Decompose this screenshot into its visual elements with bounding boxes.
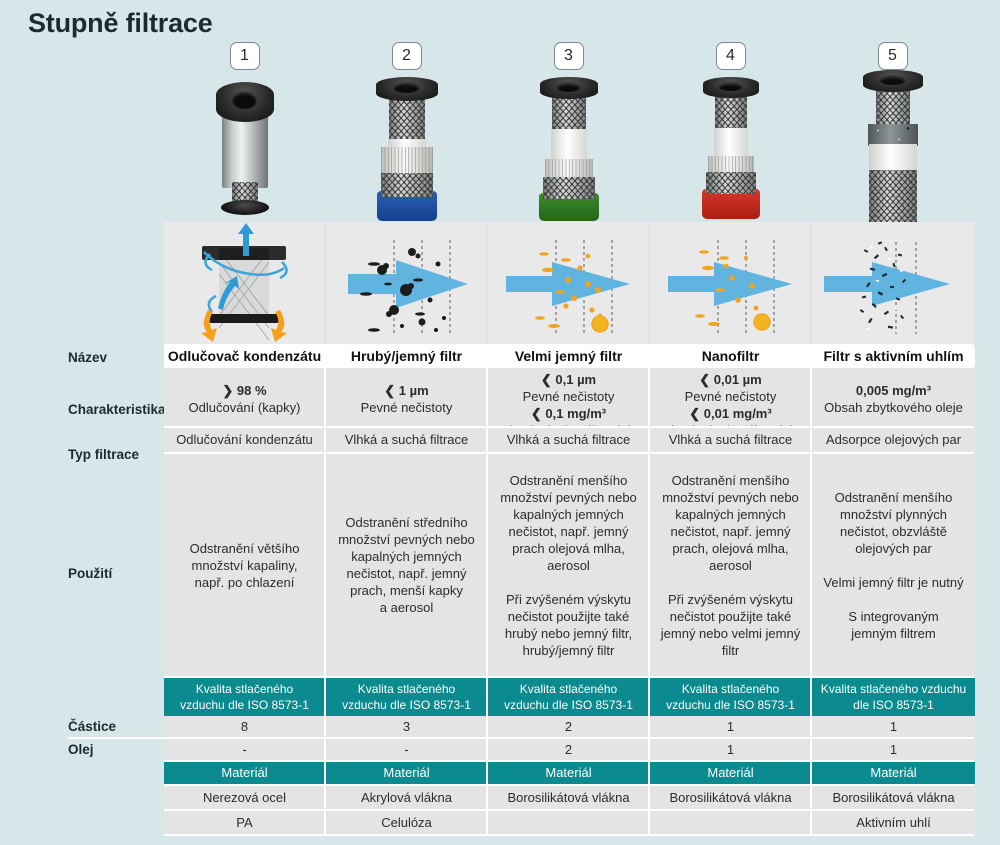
diagram-coarse-fine-filter <box>326 222 486 344</box>
material-banner-1: Materiál <box>164 762 325 784</box>
product-photo-5: 5 <box>812 36 973 222</box>
quality-banner-2: Kvalita stlačeného vzduchu dle ISO 8573-… <box>326 678 487 716</box>
material-a-cell-3: Borosilikátová vlákna <box>488 786 649 809</box>
filtration-diagram-row <box>164 222 974 344</box>
material-b-cell-2: Celulóza <box>326 811 487 834</box>
quality-banner-3: Kvalita stlačeného vzduchu dle ISO 8573-… <box>488 678 649 716</box>
nazev-cell-5: Filtr s aktivním uhlím <box>812 347 975 366</box>
char-line: 0,005 mg/m³ <box>812 382 975 399</box>
pouziti-cell-5: Odstranění menšího množství plynných neč… <box>812 454 975 676</box>
charakteristika-cell-3: ❮ 0,1 µm Pevné nečistoty ❮ 0,1 mg/m³ Obs… <box>488 368 649 426</box>
olej-cell-3: 2 <box>488 739 649 760</box>
char-line: ❮ 0,01 µm <box>650 371 811 388</box>
material-a-cell-5: Borosilikátová vlákna <box>812 786 975 809</box>
filter-element-4 <box>681 77 781 222</box>
row-label-olej: Olej <box>68 742 94 757</box>
product-photo-3: 3 <box>488 36 649 222</box>
pouziti-cell-4: Odstranění menšího množství pevných nebo… <box>650 454 811 676</box>
material-b-cell-1: PA <box>164 811 325 834</box>
olej-cell-5: 1 <box>812 739 975 760</box>
row-label-castice: Částice <box>68 719 116 734</box>
stage-badge-4: 4 <box>716 42 746 70</box>
material-a-cell-4: Borosilikátová vlákna <box>650 786 811 809</box>
diagram-nanofilter <box>650 222 810 344</box>
coarse-fine-flow-icon <box>326 222 486 344</box>
nazev-cell-2: Hrubý/jemný filtr <box>326 347 487 366</box>
row-divider-olej <box>164 760 974 762</box>
stage-badge-1: 1 <box>230 42 260 70</box>
nazev-cell-1: Odlučovač kondenzátu <box>164 347 325 366</box>
row-label-typ-filtrace: Typ filtrace <box>68 447 139 462</box>
activated-carbon-flow-icon <box>812 222 974 344</box>
typ-filtrace-cell-2: Vlhká a suchá filtrace <box>326 428 487 452</box>
product-photo-1: 1 <box>164 36 325 222</box>
material-banner-5: Materiál <box>812 762 975 784</box>
row-label-pouziti: Použití <box>68 566 112 581</box>
char-line: ❮ 0,1 µm <box>488 371 649 388</box>
material-a-cell-1: Nerezová ocel <box>164 786 325 809</box>
row-divider-bottom <box>164 834 974 836</box>
row-divider-nazev <box>164 366 974 368</box>
product-photo-4: 4 <box>650 36 811 222</box>
stage-badge-2: 2 <box>392 42 422 70</box>
nanofilter-flow-icon <box>650 222 810 344</box>
char-line: Odlučování (kapky) <box>164 399 325 416</box>
castice-cell-3: 2 <box>488 716 649 737</box>
char-line: Obsah zbytkového oleje <box>812 399 975 416</box>
castice-cell-5: 1 <box>812 716 975 737</box>
row-label-charakteristika: Charakteristika <box>68 402 166 417</box>
row-divider-material-banner <box>164 784 974 786</box>
page-title: Stupně filtrace <box>28 8 213 39</box>
typ-filtrace-cell-4: Vlhká a suchá filtrace <box>650 428 811 452</box>
material-banner-2: Materiál <box>326 762 487 784</box>
castice-cell-1: 8 <box>164 716 325 737</box>
stage-badge-3: 3 <box>554 42 584 70</box>
typ-filtrace-cell-1: Odlučování kondenzátu <box>164 428 325 452</box>
filter-element-3 <box>519 77 619 222</box>
nazev-cell-3: Velmi jemný filtr <box>488 347 649 366</box>
row-divider-charakteristika <box>164 426 974 428</box>
castice-cell-4: 1 <box>650 716 811 737</box>
pouziti-cell-2: Odstranění středního množství pevných ne… <box>326 454 487 676</box>
olej-cell-2: - <box>326 739 487 760</box>
charakteristika-cell-5: 0,005 mg/m³ Obsah zbytkového oleje <box>812 368 975 426</box>
material-banner-3: Materiál <box>488 762 649 784</box>
char-line: ❯ 98 % <box>164 382 325 399</box>
product-photo-2: 2 <box>326 36 487 222</box>
diagram-very-fine-filter <box>488 222 648 344</box>
material-b-cell-5: Aktivním uhlí <box>812 811 975 834</box>
quality-banner-5: Kvalita stlačeného vzduchu dle ISO 8573-… <box>812 678 975 716</box>
material-a-cell-2: Akrylová vlákna <box>326 786 487 809</box>
row-divider-typ <box>164 452 974 454</box>
diagram-condensate-separator <box>164 222 324 344</box>
char-line: Pevné nečistoty <box>326 399 487 416</box>
filter-element-5 <box>843 70 943 222</box>
olej-cell-1: - <box>164 739 325 760</box>
pouziti-cell-3: Odstranění menšího množství pevných nebo… <box>488 454 649 676</box>
charakteristika-cell-4: ❮ 0,01 µm Pevné nečistoty ❮ 0,01 mg/m³ O… <box>650 368 811 426</box>
row-label-nazev: Název <box>68 350 107 365</box>
filter-element-1 <box>195 82 295 222</box>
typ-filtrace-cell-5: Adsorpce olejových par <box>812 428 975 452</box>
charakteristika-cell-1: ❯ 98 % Odlučování (kapky) <box>164 368 325 426</box>
diagram-activated-carbon-filter <box>812 222 974 344</box>
typ-filtrace-cell-3: Vlhká a suchá filtrace <box>488 428 649 452</box>
filter-element-2 <box>357 77 457 222</box>
material-b-cell-4 <box>650 811 811 834</box>
product-photo-strip: 1 2 3 4 <box>0 36 1000 222</box>
row-divider-material-a <box>164 809 974 811</box>
nazev-cell-4: Nanofiltr <box>650 347 811 366</box>
quality-banner-4: Kvalita stlačeného vzduchu dle ISO 8573-… <box>650 678 811 716</box>
row-divider-pouziti <box>164 676 974 678</box>
olej-cell-4: 1 <box>650 739 811 760</box>
material-banner-4: Materiál <box>650 762 811 784</box>
char-line: Pevné nečistoty <box>488 388 649 405</box>
charakteristika-cell-2: ❮ 1 µm Pevné nečistoty <box>326 368 487 426</box>
char-line: Pevné nečistoty <box>650 388 811 405</box>
pouziti-cell-1: Odstranění většího množství kapaliny, na… <box>164 454 325 676</box>
condensate-separator-icon <box>164 222 324 344</box>
quality-banner-1: Kvalita stlačeného vzduchu dle ISO 8573-… <box>164 678 325 716</box>
castice-cell-2: 3 <box>326 716 487 737</box>
char-line: ❮ 0,01 mg/m³ <box>650 405 811 422</box>
material-b-cell-3 <box>488 811 649 834</box>
char-line: ❮ 1 µm <box>326 382 487 399</box>
stage-badge-5: 5 <box>878 42 908 70</box>
very-fine-flow-icon <box>488 222 648 344</box>
char-line: ❮ 0,1 mg/m³ <box>488 405 649 422</box>
